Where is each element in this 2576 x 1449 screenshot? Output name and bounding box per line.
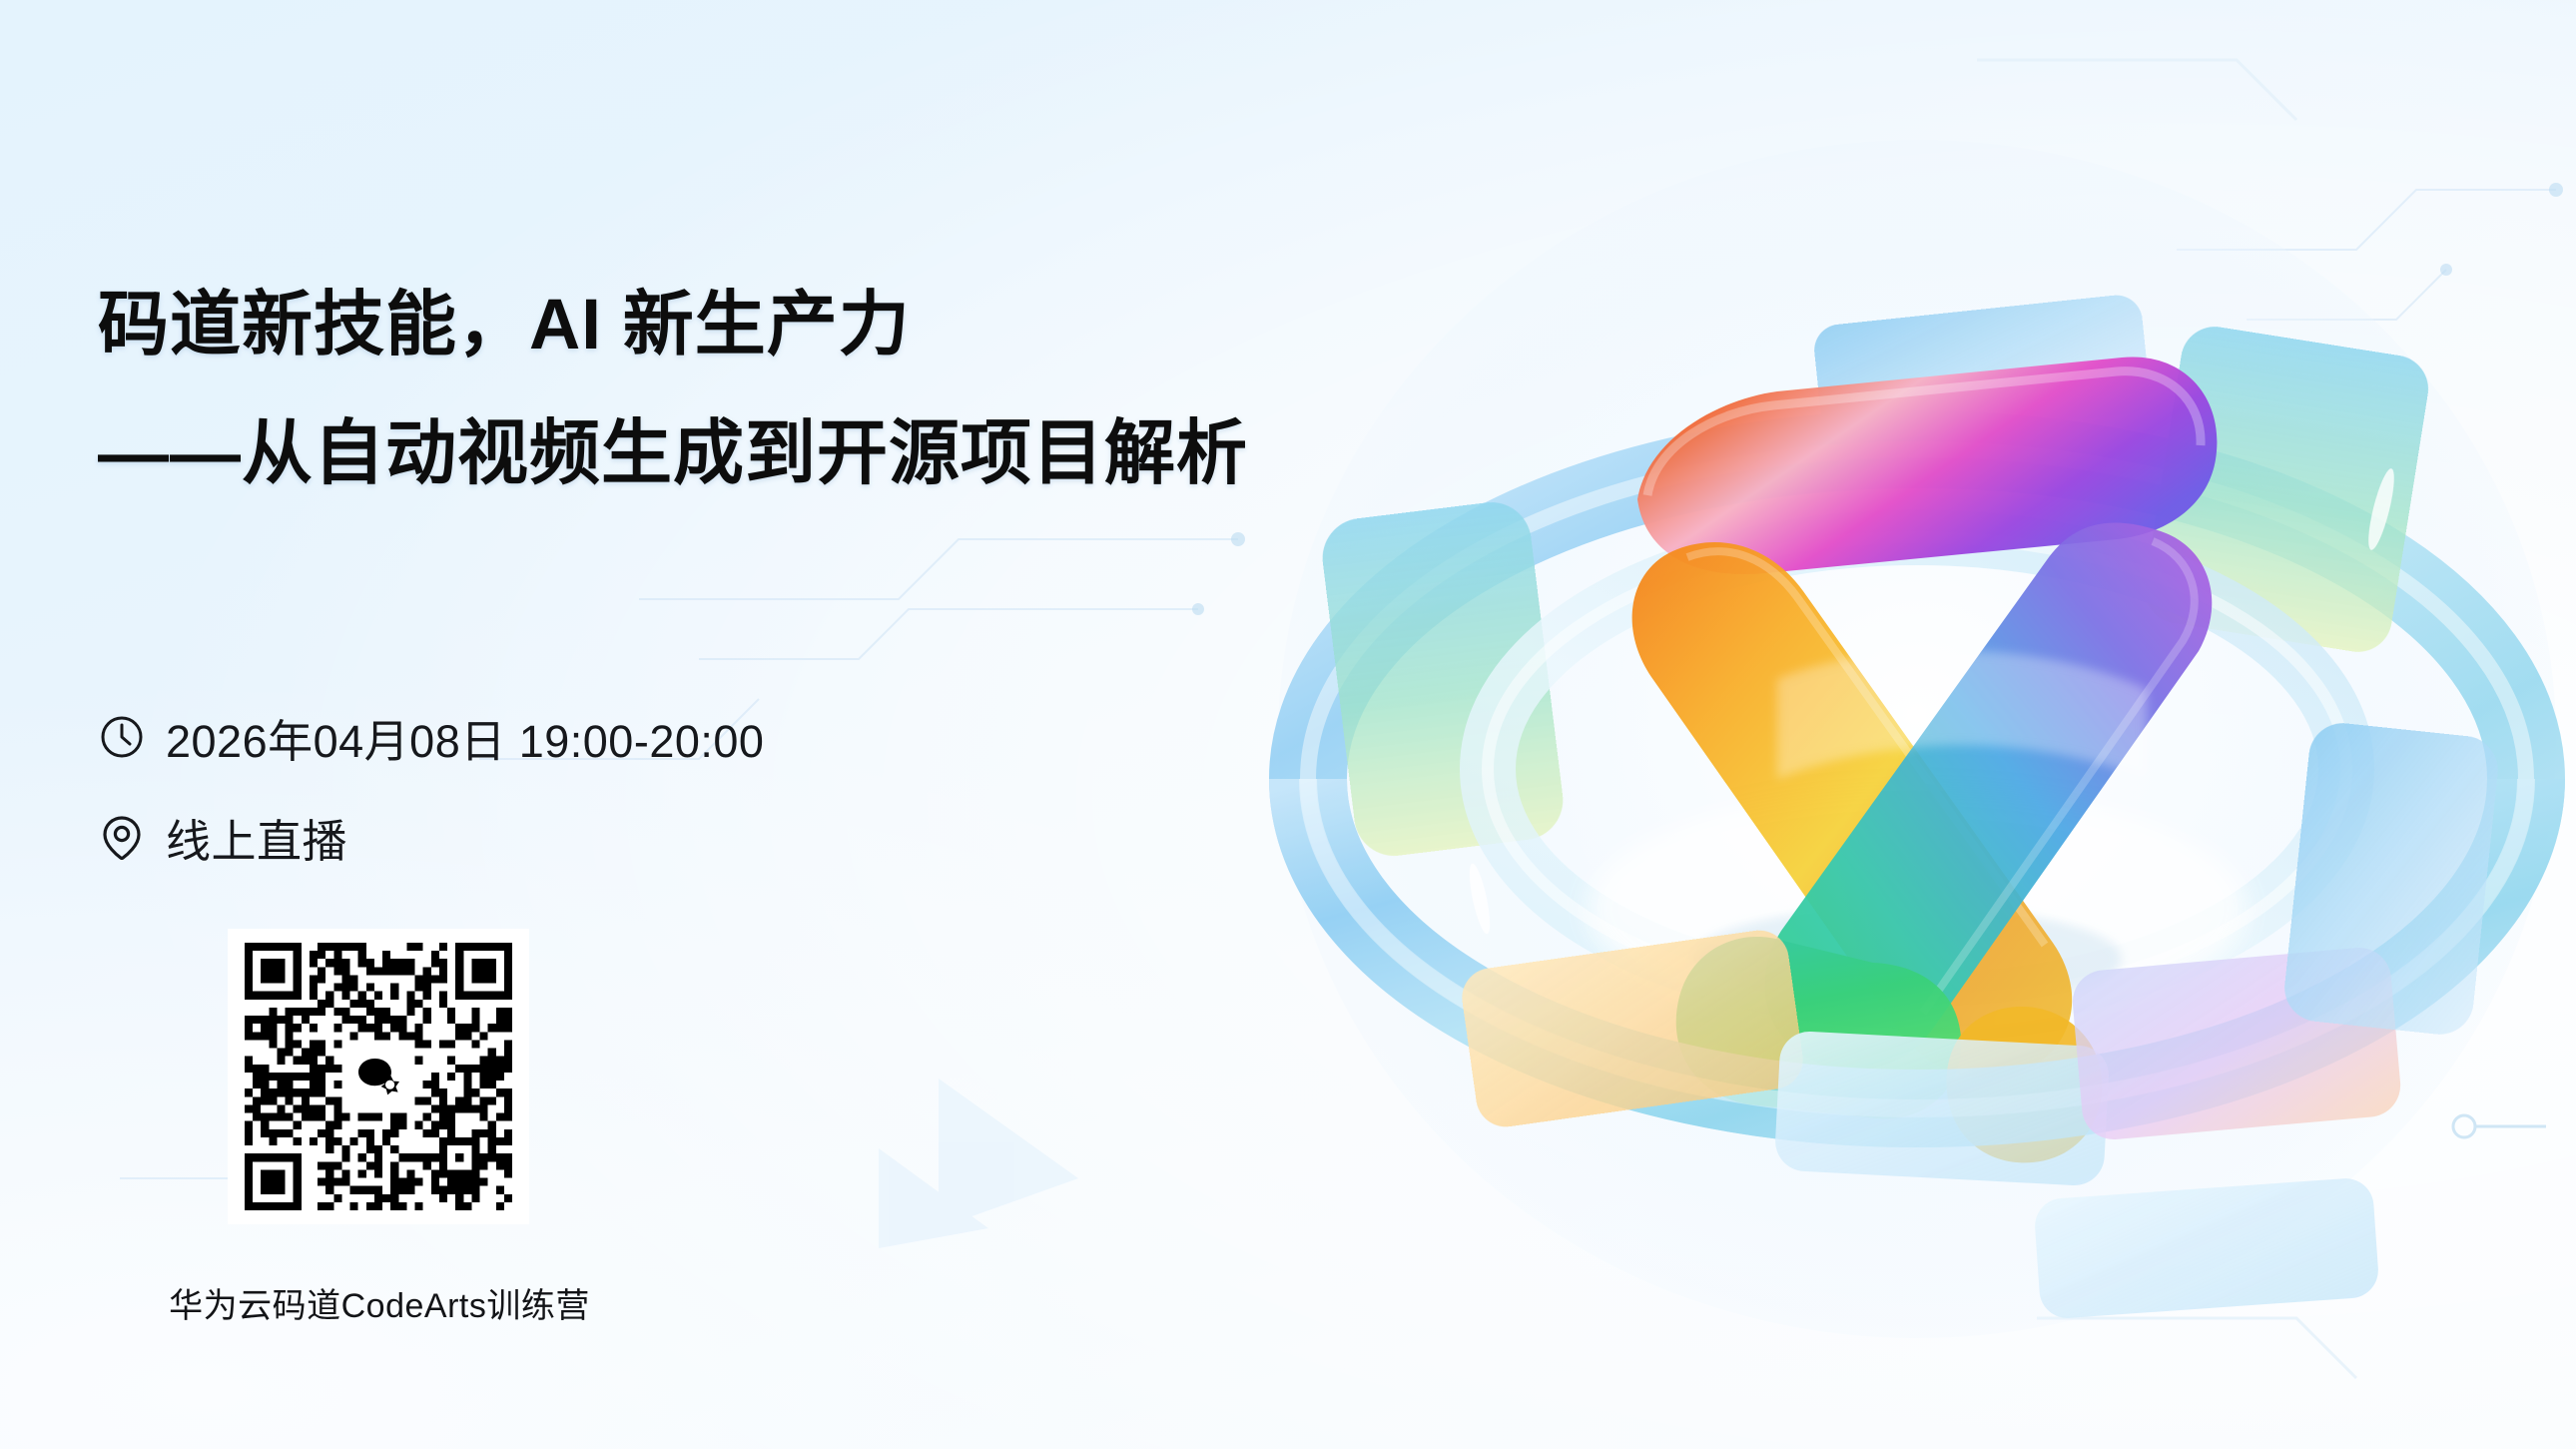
title-block: 码道新技能，AI 新生产力 ——从自动视频生成到开源项目解析 xyxy=(98,290,1546,489)
qr-code-block[interactable] xyxy=(228,929,529,1224)
page-title-line1: 码道新技能，AI 新生产力 xyxy=(98,290,1546,361)
left-content-column: 码道新技能，AI 新生产力 ——从自动视频生成到开源项目解析 2026年04月0… xyxy=(0,0,1558,1449)
qr-caption: 华为云码道CodeArts训练营 xyxy=(110,1278,649,1327)
event-meta-list: 2026年04月08日 19:00-20:00 线上直播 xyxy=(100,705,764,905)
qr-code-card[interactable] xyxy=(228,929,529,1224)
qr-code-image[interactable] xyxy=(245,943,512,1210)
event-location-row: 线上直播 xyxy=(100,805,764,869)
clock-icon xyxy=(100,715,144,759)
event-time-row: 2026年04月08日 19:00-20:00 xyxy=(100,705,764,769)
event-time-text: 2026年04月08日 19:00-20:00 xyxy=(166,705,764,770)
poster-root: 码道新技能，AI 新生产力 ——从自动视频生成到开源项目解析 2026年04月0… xyxy=(0,0,2576,1449)
page-title-line2: ——从自动视频生成到开源项目解析 xyxy=(98,418,1546,489)
event-location-text: 线上直播 xyxy=(166,805,347,870)
wechat-speech-bubble-icon xyxy=(345,1044,411,1109)
location-pin-icon xyxy=(100,815,144,859)
